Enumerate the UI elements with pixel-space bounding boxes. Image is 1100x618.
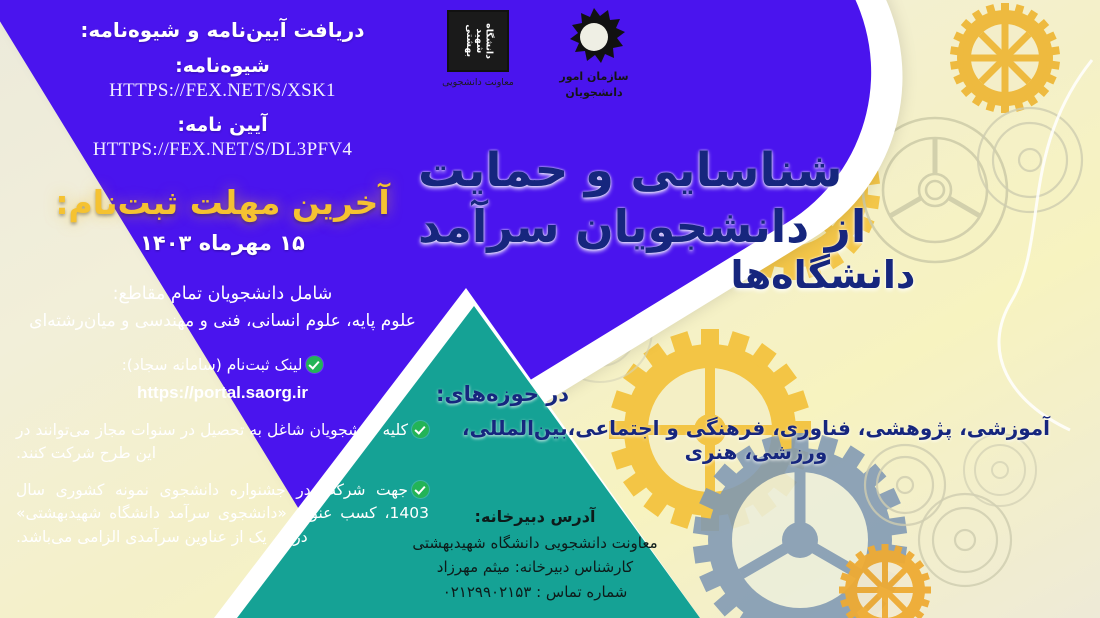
- areas-list: آموزشی، پژوهشی، فناوری، فرهنگی و اجتماعی…: [436, 416, 1076, 464]
- deadline-label: آخرین مهلت ثبت‌نام:: [14, 183, 431, 222]
- bullet-text: کلیه دانشجویان شاغل به تحصیل در سنوات مج…: [16, 421, 408, 463]
- check-icon: [412, 481, 429, 498]
- areas-heading: در حوزه‌های:: [436, 382, 1076, 406]
- secretariat-line-2: کارشناس دبیرخانه: میثم مهرزاد: [300, 555, 770, 579]
- registration-url-link[interactable]: https://portal.saorg.ir: [16, 380, 429, 406]
- regulation-url-link[interactable]: HTTPS://FEX.NET/S/DL3PFV4: [14, 139, 431, 161]
- university-emblem-text: دانشگاه شهید بهشتی: [463, 11, 492, 72]
- scope-line-1: شامل دانشجویان تمام مقاطع:: [14, 281, 431, 308]
- secretariat-phone: شماره تماس : ۰۲۱۲۹۹۰۲۱۵۳: [300, 580, 770, 604]
- secretariat-block: آدرس دبیرخانه: معاونت دانشجویی دانشگاه ش…: [300, 504, 770, 604]
- title-line-2: از دانشجویان سرآمد: [418, 202, 1078, 252]
- organization-logo-line2: دانشجویان: [534, 86, 654, 100]
- list-item: کلیه دانشجویان شاغل به تحصیل در سنوات مج…: [14, 419, 431, 466]
- scope-line-2: علوم پایه، علوم انسانی، فنی و مهندسی و م…: [14, 308, 431, 334]
- regulation-label: آیین نامه:: [14, 114, 431, 136]
- bullet-text: لینک ثبت‌نام (سامانه سجاد):: [122, 356, 303, 374]
- secretariat-line-1: معاونت دانشجویی دانشگاه شهیدبهشتی: [300, 531, 770, 555]
- method-label: شیوه‌نامه:: [14, 55, 431, 77]
- starburst-icon: [562, 6, 626, 68]
- check-icon: [306, 356, 323, 373]
- deadline-date: ۱۵ مهرماه ۱۴۰۳: [14, 231, 431, 255]
- organization-logo-line1: سازمان امور: [534, 70, 654, 84]
- page-title: شناسایی و حمایت از دانشجویان سرآمد دانشگ…: [418, 145, 1078, 297]
- areas-section: در حوزه‌های: آموزشی، پژوهشی، فناوری، فره…: [436, 382, 1076, 464]
- organization-logo: سازمان امور دانشجویان: [534, 6, 654, 100]
- check-icon: [412, 421, 429, 438]
- list-item: لینک ثبت‌نام (سامانه سجاد): https://port…: [14, 354, 431, 405]
- eligibility-scope: شامل دانشجویان تمام مقاطع: علوم پایه، عل…: [14, 281, 431, 334]
- university-emblem-icon: دانشگاه شهید بهشتی: [447, 10, 509, 72]
- method-url-link[interactable]: HTTPS://FEX.NET/S/XSK1: [14, 80, 431, 102]
- download-heading: دریافت آیین‌نامه و شیوه‌نامه:: [14, 18, 431, 43]
- secretariat-title: آدرس دبیرخانه:: [300, 504, 770, 530]
- title-line-1: شناسایی و حمایت: [418, 145, 1078, 198]
- poster-root: دانشگاه شهید بهشتی معاونت دانشجویی سازما…: [0, 0, 1100, 618]
- title-line-3: دانشگاه‌ها: [418, 254, 1078, 297]
- logo-group: دانشگاه شهید بهشتی معاونت دانشجویی سازما…: [430, 6, 660, 111]
